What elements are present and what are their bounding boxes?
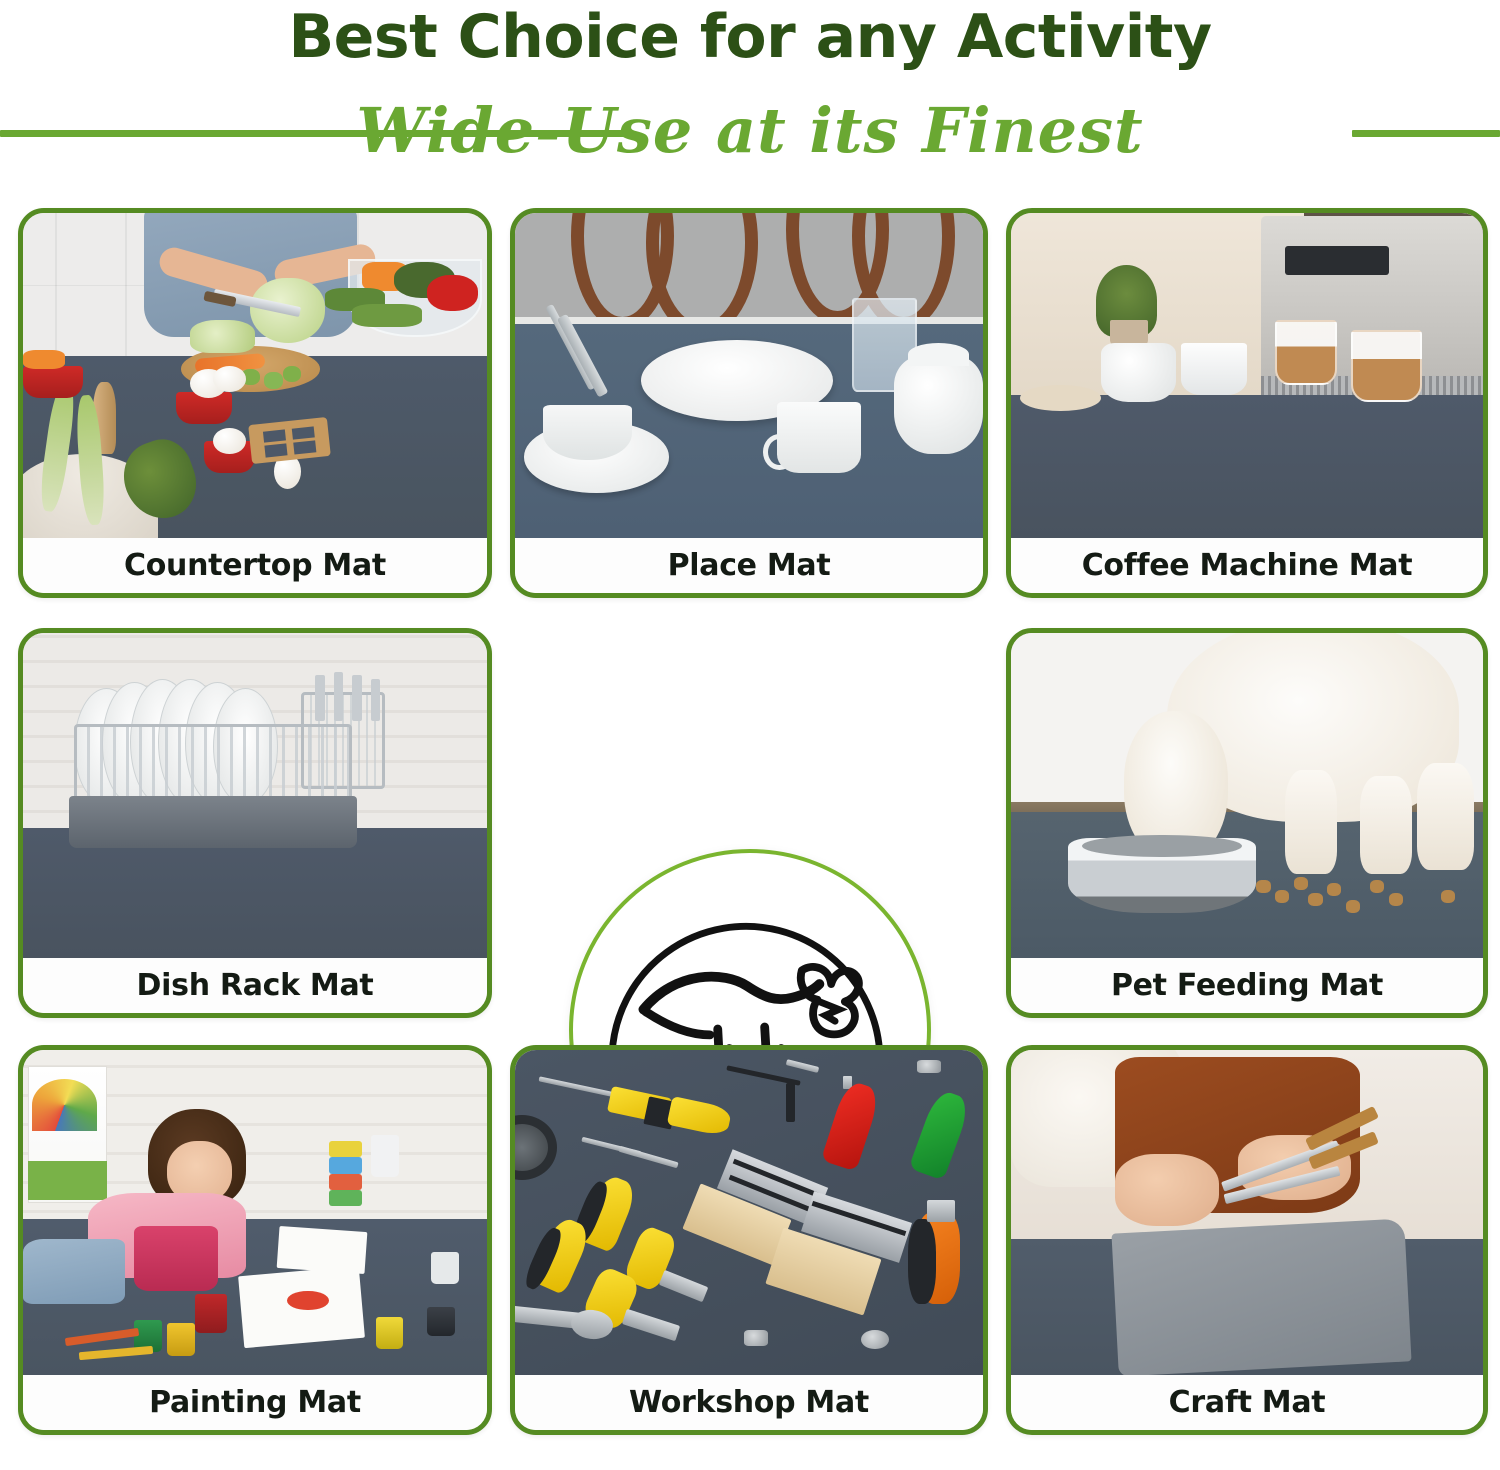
feature-grid: Countertop Mat [0, 200, 1500, 1465]
infographic-page: Best Choice for any Activity Wide-Use at… [0, 0, 1500, 1470]
photo-countertop-mat [23, 213, 487, 538]
photo-pet-feeding-mat [1011, 633, 1483, 958]
photo-coffee-machine-mat [1011, 213, 1483, 538]
card-countertop-mat[interactable]: Countertop Mat [18, 208, 492, 598]
card-craft-mat[interactable]: Craft Mat [1006, 1045, 1488, 1435]
card-label-countertop-mat: Countertop Mat [23, 538, 487, 593]
photo-painting-mat [23, 1050, 487, 1375]
card-dish-rack-mat[interactable]: Dish Rack Mat [18, 628, 492, 1018]
card-label-painting-mat: Painting Mat [23, 1375, 487, 1430]
card-workshop-mat[interactable]: Workshop Mat [510, 1045, 988, 1435]
photo-place-mat [515, 213, 983, 538]
header: Best Choice for any Activity Wide-Use at… [0, 0, 1500, 185]
card-label-coffee-machine-mat: Coffee Machine Mat [1011, 538, 1483, 593]
card-label-pet-feeding-mat: Pet Feeding Mat [1011, 958, 1483, 1013]
card-label-place-mat: Place Mat [515, 538, 983, 593]
photo-craft-mat [1011, 1050, 1483, 1375]
page-title: Best Choice for any Activity [0, 4, 1500, 70]
card-place-mat[interactable]: Place Mat [510, 208, 988, 598]
subtitle-row: Wide-Use at its Finest [0, 92, 1500, 172]
card-label-craft-mat: Craft Mat [1011, 1375, 1483, 1430]
page-subtitle: Wide-Use at its Finest [0, 92, 1500, 170]
card-painting-mat[interactable]: Painting Mat [18, 1045, 492, 1435]
card-label-dish-rack-mat: Dish Rack Mat [23, 958, 487, 1013]
card-label-workshop-mat: Workshop Mat [515, 1375, 983, 1430]
photo-dish-rack-mat [23, 633, 487, 958]
card-coffee-machine-mat[interactable]: Coffee Machine Mat [1006, 208, 1488, 598]
card-pet-feeding-mat[interactable]: Pet Feeding Mat [1006, 628, 1488, 1018]
photo-workshop-mat [515, 1050, 983, 1375]
